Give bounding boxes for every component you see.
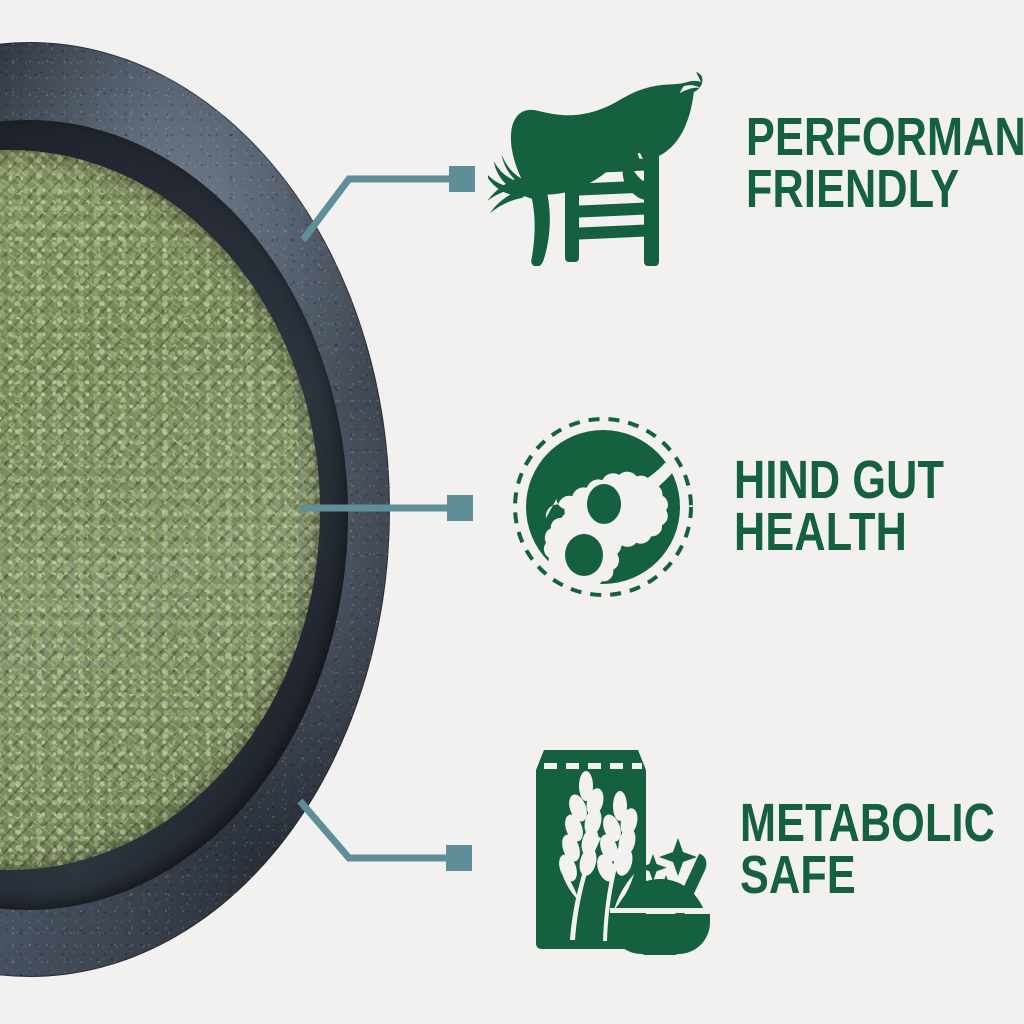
feature-metabolic-safe-label: METABOLIC SAFE: [740, 798, 995, 902]
feature-metabolic-safe: METABOLIC SAFE: [530, 742, 1024, 957]
product-photo: [0, 0, 420, 1024]
gut-health-circle-icon: [508, 412, 698, 602]
connector-endpoint-metabolic-safe: [446, 845, 472, 871]
bowl-rim-gap: [610, 908, 710, 913]
feature-performance-friendly-label: PERFORMANCE FRIENDLY: [746, 112, 1024, 216]
connector-endpoint-performance-friendly: [449, 166, 475, 192]
feature-performance-friendly: PERFORMANCE FRIENDLY: [488, 66, 1024, 266]
feature-hind-gut-health: HIND GUT HEALTH: [508, 412, 997, 602]
infographic-canvas: PERFORMANCE FRIENDLY: [0, 0, 1024, 1024]
jumping-horse-over-fence-icon: [488, 66, 720, 266]
feed-pellets: [0, 150, 320, 870]
connector-endpoint-hind-gut-health: [447, 495, 473, 521]
feature-hind-gut-health-label: HIND GUT HEALTH: [734, 455, 944, 559]
feed-bag-grain-bowl-icon: [530, 742, 714, 957]
